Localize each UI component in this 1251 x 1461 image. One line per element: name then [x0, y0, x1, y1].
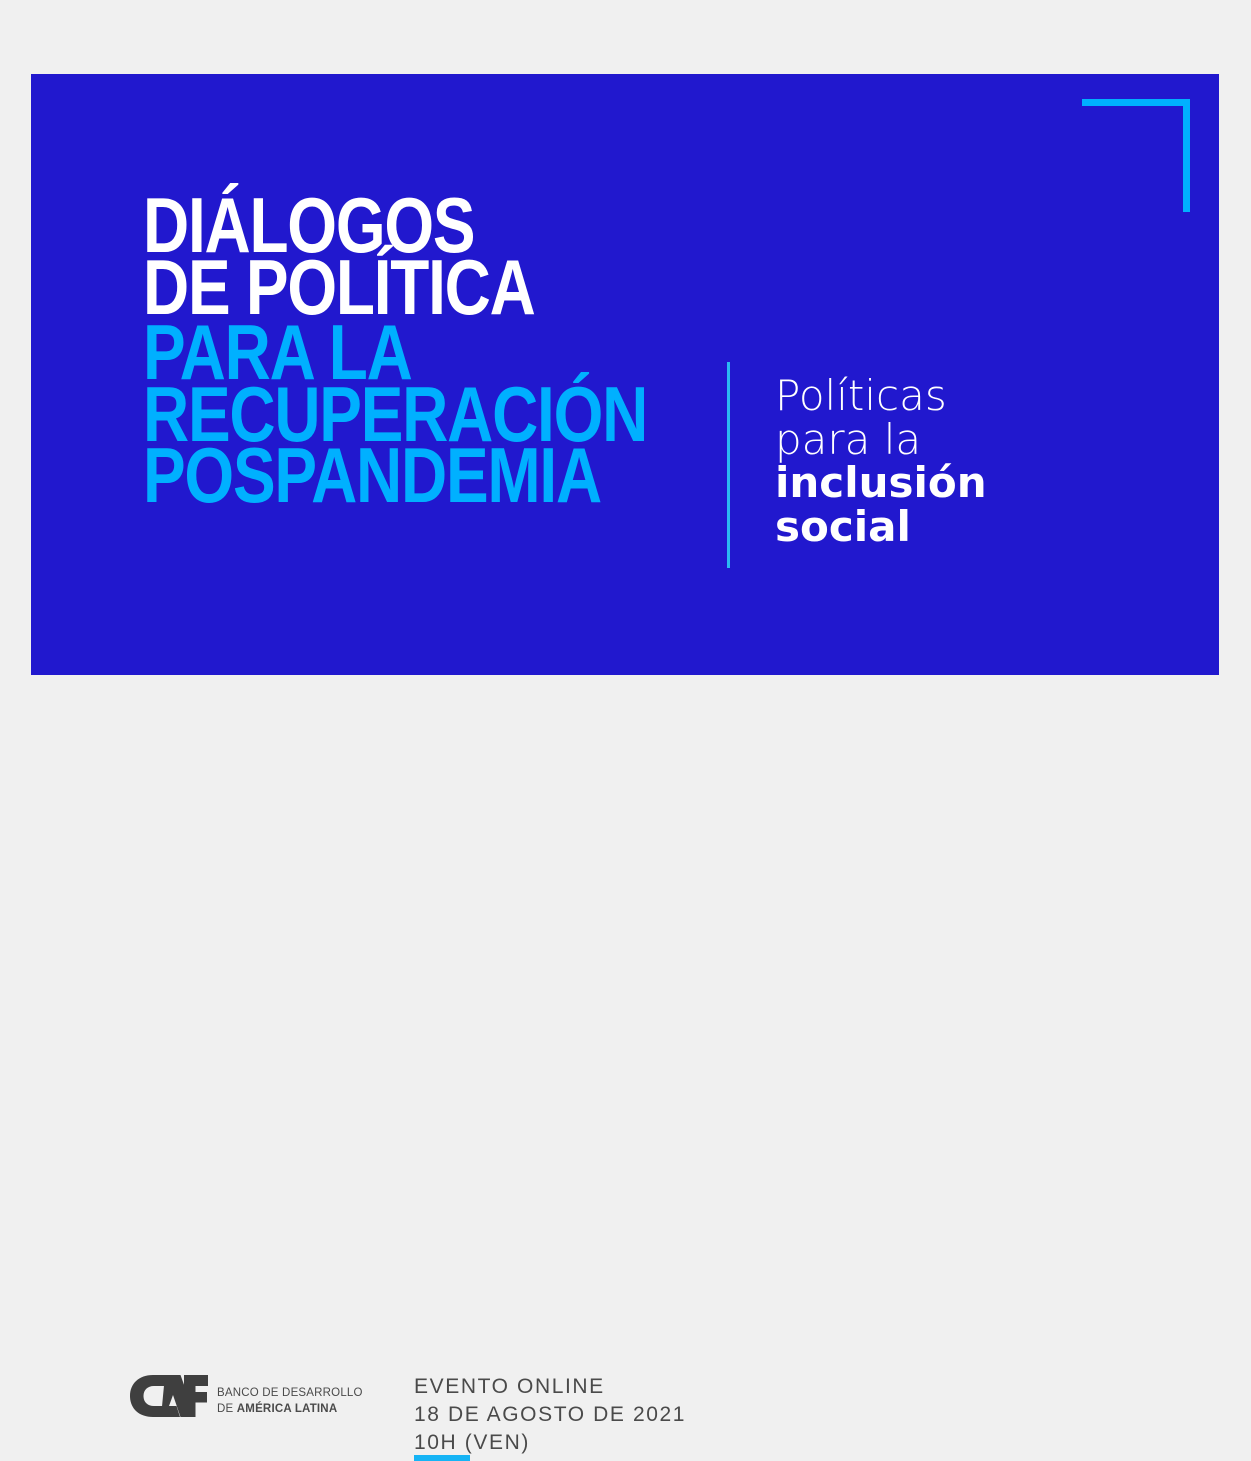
subtitle-line-inclusion: inclusión — [775, 461, 1105, 505]
vertical-divider — [727, 362, 730, 568]
caf-logo: BANCO DE DESARROLLO DE AMÉRICA LATINA — [130, 1375, 363, 1417]
subtitle-line-politicas: Políticas — [775, 374, 1105, 418]
corner-bracket-decoration — [1082, 99, 1190, 212]
event-underline-accent — [414, 1455, 470, 1461]
caf-tagline-line-1: BANCO DE DESARROLLO — [217, 1386, 363, 1402]
caf-logomark-icon — [130, 1375, 208, 1417]
headline-line-pospandemia: POSPANDEMIA — [143, 445, 635, 507]
event-detail-time: 10H (VEN) — [414, 1429, 686, 1457]
event-detail-date: 18 DE AGOSTO DE 2021 — [414, 1401, 686, 1429]
caf-tagline-prefix: DE — [217, 1403, 237, 1415]
caf-tagline-line-2: DE AMÉRICA LATINA — [217, 1402, 363, 1418]
subtitle-line-social: social — [775, 505, 1105, 549]
caf-tagline-strong: AMÉRICA LATINA — [237, 1403, 338, 1415]
hero-panel: DIÁLOGOS DE POLÍTICA PARA LA RECUPERACIÓ… — [31, 74, 1219, 675]
event-subtitle: Políticas para la inclusión social — [775, 374, 1105, 549]
caf-tagline: BANCO DE DESARROLLO DE AMÉRICA LATINA — [217, 1386, 363, 1417]
event-details: EVENTO ONLINE 18 DE AGOSTO DE 2021 10H (… — [414, 1373, 686, 1457]
event-detail-modality: EVENTO ONLINE — [414, 1373, 686, 1401]
subtitle-line-para-la: para la — [775, 418, 1105, 462]
footer: BANCO DE DESARROLLO DE AMÉRICA LATINA EV… — [0, 675, 1251, 834]
event-headline: DIÁLOGOS DE POLÍTICA PARA LA RECUPERACIÓ… — [143, 195, 743, 507]
